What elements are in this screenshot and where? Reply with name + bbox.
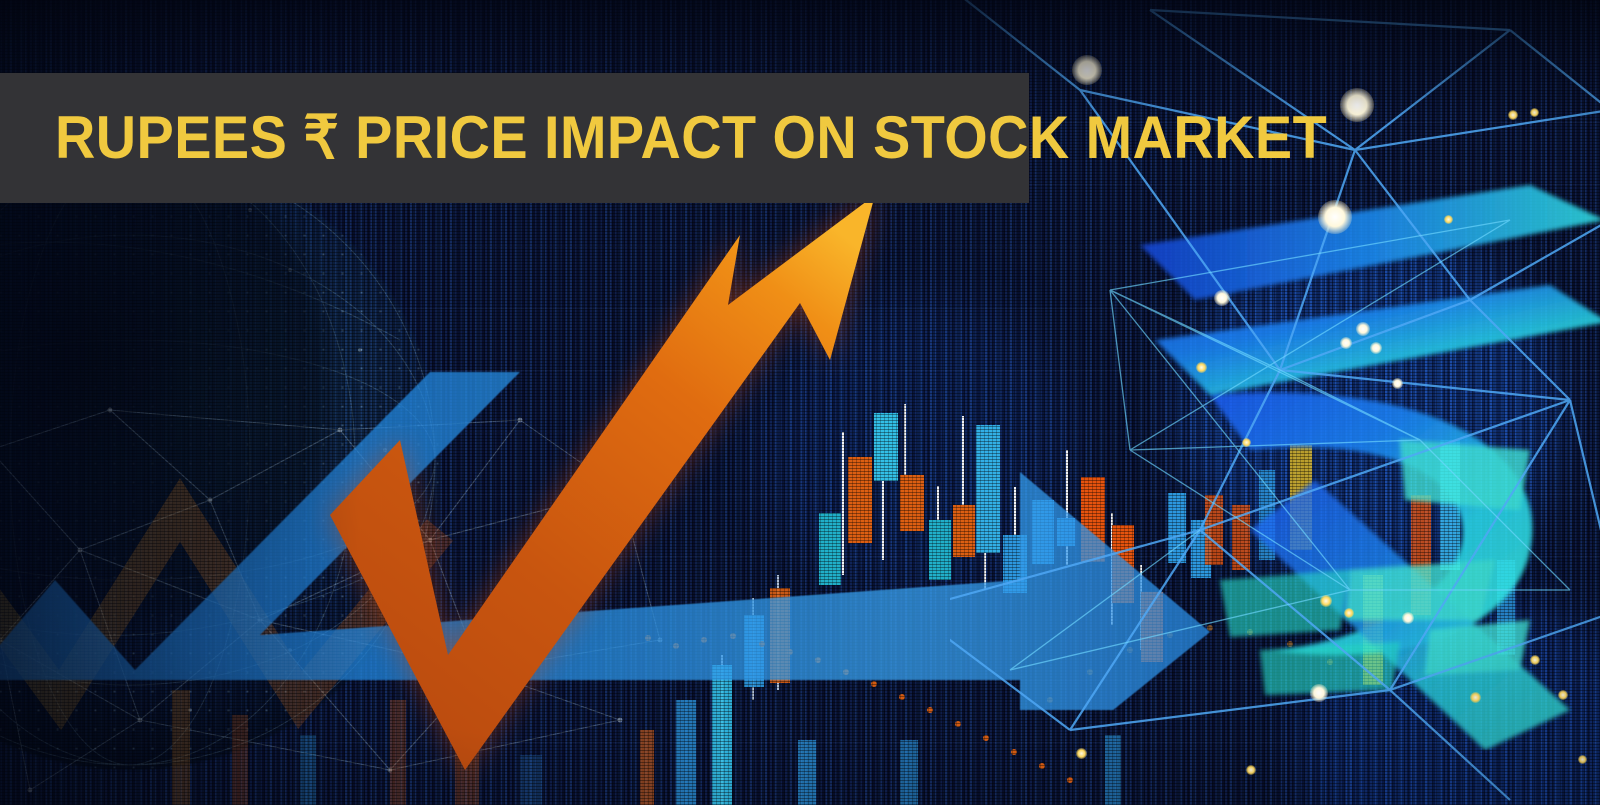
title-banner: RUPEES ₹ PRICE IMPACT ON STOCK MARKET xyxy=(0,73,1029,203)
page-title: RUPEES ₹ PRICE IMPACT ON STOCK MARKET xyxy=(55,108,1327,168)
banner-graphic: RUPEES ₹ PRICE IMPACT ON STOCK MARKET xyxy=(0,0,1600,805)
